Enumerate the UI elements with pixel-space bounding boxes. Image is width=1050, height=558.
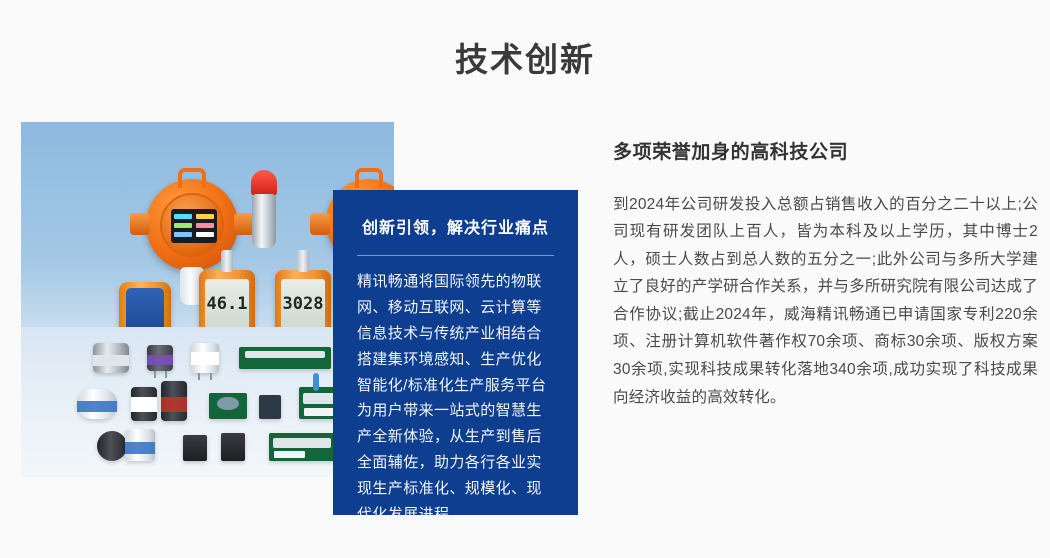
sensor-can-white-round: [77, 389, 117, 419]
feature-card-title: 创新引领，解决行业痛点: [357, 218, 554, 240]
handheld-2-reading: 3028: [281, 279, 325, 329]
page-title: 技术创新: [0, 40, 1050, 80]
sensor-can-metal-1: [93, 343, 129, 373]
feature-card-divider: [357, 255, 554, 256]
sensor-pcb-small-1: [209, 393, 247, 419]
sensor-can-dark-1: [131, 387, 157, 421]
sensor-pcb-long-2: [269, 433, 335, 461]
sensor-can-dark-2: [161, 381, 187, 421]
sensor-can-co2: [191, 343, 219, 373]
sensor-block-2: [221, 433, 245, 461]
alarm-beacon: [249, 170, 279, 250]
sensor-pcb-long-1: [239, 347, 331, 369]
technology-innovation-section: 技术创新: [0, 0, 1050, 558]
sensor-can-white-2: [125, 429, 155, 461]
sensor-block-1: [183, 435, 207, 461]
feature-card-body: 精讯畅通将国际领先的物联网、移动互联网、云计算等信息技术与传统产业相结合搭建集环…: [357, 269, 554, 527]
info-column-body: 到2024年公司研发投入总额占销售收入的百分之二十以上;公司现有研发团队上百人，…: [613, 191, 1038, 412]
handheld-1-reading: 46.1: [205, 279, 249, 329]
info-column: 多项荣誉加身的高科技公司 到2024年公司研发投入总额占销售收入的百分之二十以上…: [613, 140, 1038, 411]
sensor-module-small: [259, 395, 281, 419]
sensor-can-purple: [147, 345, 173, 371]
feature-card: 创新引领，解决行业痛点 精讯畅通将国际领先的物联网、移动互联网、云计算等信息技术…: [333, 190, 578, 515]
sensor-can-socket: [97, 431, 127, 461]
detector-screen: [171, 209, 217, 243]
info-column-title: 多项荣誉加身的高科技公司: [613, 140, 1038, 167]
